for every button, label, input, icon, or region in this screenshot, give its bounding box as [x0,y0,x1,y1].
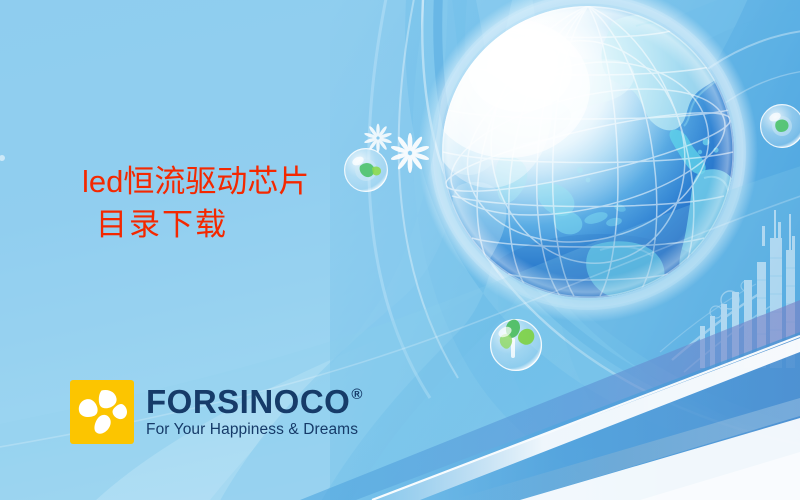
logo-wordmark-text: FORSINOCO [146,385,350,419]
logo-wordmark: FORSINOCO® [146,385,363,419]
brand-logo: FORSINOCO® For Your Happiness & Dreams [70,380,363,444]
banner-image: led恒流驱动芯片 目录下载 FORSINOCO® For Your Happi… [0,0,800,500]
bubble-with-globe [344,148,388,192]
four-petal-flower-icon [70,380,134,444]
logo-text-block: FORSINOCO® For Your Happiness & Dreams [146,385,363,439]
registered-trademark-icon: ® [351,387,363,402]
logo-tagline: For Your Happiness & Dreams [146,420,363,439]
logo-mark-tile [70,380,134,444]
bubble-with-leaf [490,319,542,371]
